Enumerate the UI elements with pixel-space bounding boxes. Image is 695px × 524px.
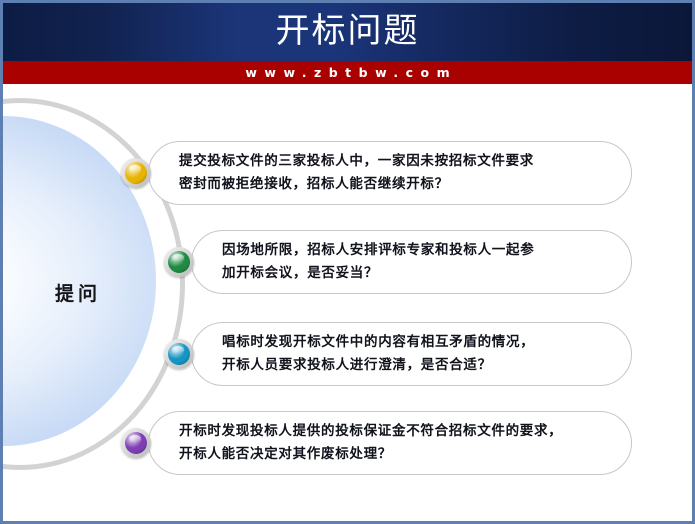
- question-bubble-2[interactable]: 因场地所限，招标人安排评标专家和投标人一起参 加开标会议，是否妥当？: [191, 230, 632, 294]
- page-title: 开标问题: [3, 5, 692, 57]
- bullet-orb: [168, 251, 190, 273]
- hub-label: 提问: [13, 279, 143, 306]
- bullet-orb: [125, 432, 147, 454]
- question-text-line: 因场地所限，招标人安排评标专家和投标人一起参: [222, 239, 605, 262]
- question-bubble-1[interactable]: 提交投标文件的三家投标人中，一家因未按招标文件要求 密封而被拒绝接收，招标人能否…: [148, 141, 632, 205]
- question-text-line: 开标人能否决定对其作废标处理？: [179, 443, 605, 466]
- bullet-yellow-icon[interactable]: [121, 158, 151, 188]
- bullet-orb: [125, 162, 147, 184]
- question-bubble-3[interactable]: 唱标时发现开标文件中的内容有相互矛盾的情况， 开标人员要求投标人进行澄清，是否合…: [191, 322, 632, 386]
- bullet-green-icon[interactable]: [164, 247, 194, 277]
- question-text-line: 提交投标文件的三家投标人中，一家因未按招标文件要求: [179, 150, 605, 173]
- bullet-blue-icon[interactable]: [164, 339, 194, 369]
- question-text-line: 开标时发现投标人提供的投标保证金不符合招标文件的要求，: [179, 420, 605, 443]
- question-text-line: 唱标时发现开标文件中的内容有相互矛盾的情况，: [222, 331, 605, 354]
- bullet-orb: [168, 343, 190, 365]
- question-text-line: 密封而被拒绝接收，招标人能否继续开标？: [179, 173, 605, 196]
- question-text-line: 加开标会议，是否妥当？: [222, 262, 605, 285]
- content-area: 提问 提交投标文件的三家投标人中，一家因未按招标文件要求 密封而被拒绝接收，招标…: [3, 84, 692, 521]
- question-bubble-4[interactable]: 开标时发现投标人提供的投标保证金不符合招标文件的要求， 开标人能否决定对其作废标…: [148, 411, 632, 475]
- question-text-line: 开标人员要求投标人进行澄清，是否合适？: [222, 354, 605, 377]
- website-url: www.zbtbw.com: [3, 61, 692, 84]
- bullet-purple-icon[interactable]: [121, 428, 151, 458]
- slide-canvas: 开标问题 www.zbtbw.com 提问 提交投标文件的三家投标人中，一家因未…: [0, 0, 695, 524]
